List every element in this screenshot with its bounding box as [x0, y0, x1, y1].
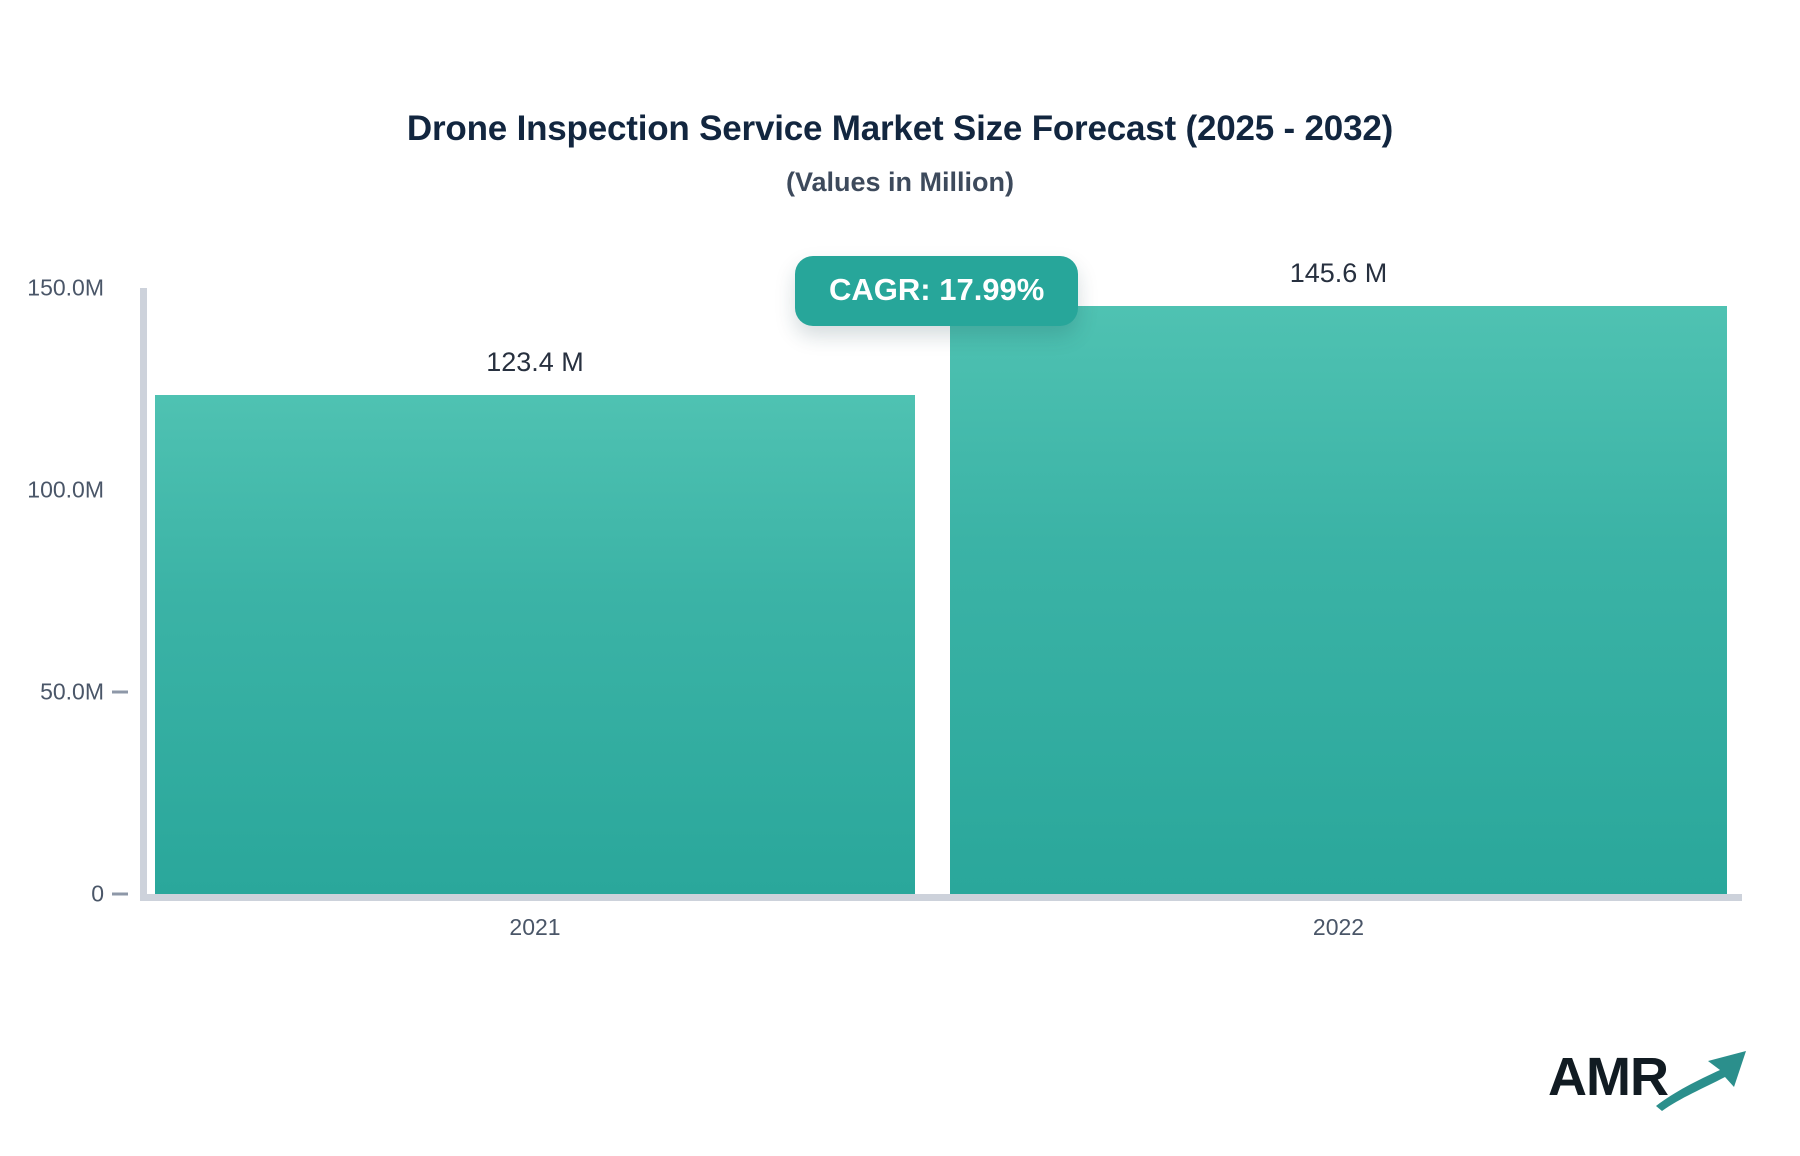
plot-area [140, 288, 1742, 894]
x-axis-label-2022: 2022 [1313, 914, 1364, 941]
chart-subtitle: (Values in Million) [0, 166, 1800, 198]
amr-logo: AMR [1548, 1035, 1750, 1118]
bar-value-label-2021: 123.4 M [486, 347, 584, 378]
y-tick-label-150: 150.0M [27, 275, 104, 302]
y-tick-label-100: 100.0M [27, 477, 104, 504]
chart-canvas: Drone Inspection Service Market Size For… [0, 0, 1800, 1156]
y-tick-label-0: 0 [91, 881, 104, 908]
page-title: Drone Inspection Service Market Size For… [0, 108, 1800, 150]
y-axis-labels: 150.0M 100.0M 50.0M 0 [0, 288, 140, 894]
growth-arrow-icon [1654, 1043, 1750, 1118]
title-block: Drone Inspection Service Market Size For… [0, 108, 1800, 198]
y-tick-mark-0 [112, 893, 128, 896]
x-axis-line [140, 894, 1742, 901]
logo-text: AMR [1548, 1050, 1668, 1104]
cagr-badge: CAGR: 17.99% [795, 256, 1078, 326]
y-tick-label-50: 50.0M [40, 679, 104, 706]
y-axis-line [140, 288, 147, 894]
x-axis-label-2021: 2021 [509, 914, 560, 941]
y-tick-mark-50 [112, 691, 128, 694]
bar-2021[interactable] [155, 395, 915, 894]
bar-2022[interactable] [950, 306, 1727, 894]
bar-value-label-2022: 145.6 M [1290, 258, 1388, 289]
